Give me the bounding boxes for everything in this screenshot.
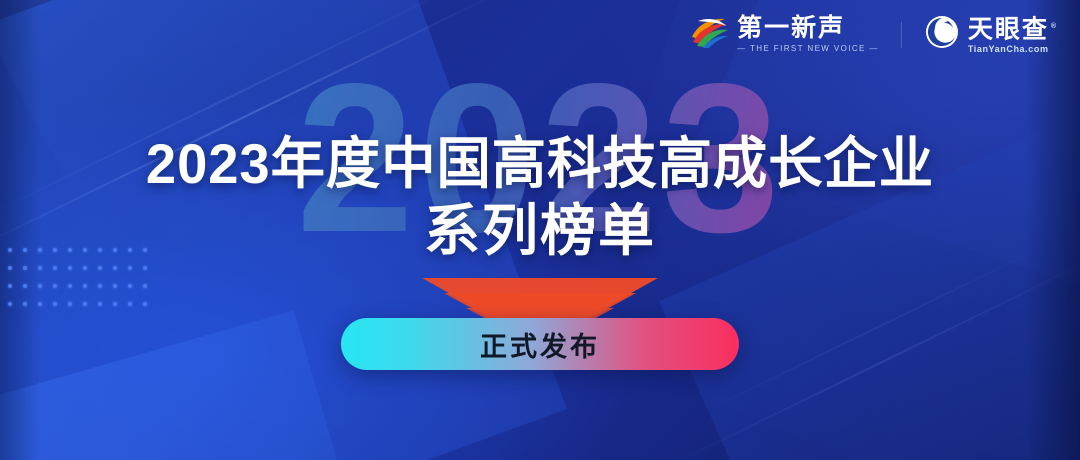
logo-diyixinsheng[interactable]: 第一新声 — THE FIRST NEW VOICE — (689, 15, 879, 54)
grid-dot (128, 284, 132, 288)
logo-bar: 第一新声 — THE FIRST NEW VOICE — 天眼查® TianYa… (689, 14, 1058, 55)
grid-dot (143, 266, 147, 270)
grid-dot (143, 284, 147, 288)
grid-dot (38, 266, 42, 270)
grid-dot (143, 302, 147, 306)
grid-dot (8, 266, 12, 270)
grid-dot (23, 302, 27, 306)
logo-divider (901, 22, 902, 48)
grid-dot (23, 284, 27, 288)
diyixinsheng-mark-icon (689, 15, 729, 54)
diyixinsheng-text: 第一新声 — THE FIRST NEW VOICE — (737, 15, 879, 54)
release-pill-label: 正式发布 (480, 325, 600, 364)
trademark-symbol: ® (1051, 23, 1058, 30)
tianyancha-name-cn: 天眼查® (968, 14, 1058, 42)
diyixinsheng-tagline: — THE FIRST NEW VOICE — (737, 43, 879, 54)
headline-line-2: 系列榜单 (0, 200, 1080, 262)
grid-dot (8, 302, 12, 306)
tianyancha-eye-icon (924, 14, 960, 55)
grid-dot (38, 302, 42, 306)
grid-dot (113, 266, 117, 270)
grid-dot (128, 302, 132, 306)
grid-dot (98, 302, 102, 306)
grid-dot (23, 266, 27, 270)
grid-dot (83, 266, 87, 270)
headline-line-1: 2023年度中国高科技高成长企业 (16, 132, 1064, 196)
tianyancha-name-cn-text: 天眼查 (968, 15, 1049, 43)
grid-dot (113, 284, 117, 288)
grid-dot (8, 284, 12, 288)
page-title: 2023年度中国高科技高成长企业 系列榜单 (0, 132, 1080, 262)
tianyancha-text: 天眼查® TianYanCha.com (968, 14, 1058, 55)
grid-dot (128, 266, 132, 270)
diyixinsheng-name-cn: 第一新声 (737, 15, 879, 41)
grid-dot (38, 284, 42, 288)
grid-dot (98, 266, 102, 270)
grid-dot (83, 302, 87, 306)
release-pill-button[interactable]: 正式发布 (341, 318, 739, 370)
grid-dot (113, 302, 117, 306)
grid-dot (68, 266, 72, 270)
logo-tianyancha[interactable]: 天眼查® TianYanCha.com (924, 14, 1058, 55)
grid-dot (98, 284, 102, 288)
grid-dot (83, 284, 87, 288)
grid-dot (53, 302, 57, 306)
grid-dot (53, 284, 57, 288)
grid-dot (53, 266, 57, 270)
promo-banner: 2023 2023年度中国高科技高成长企业 系列榜单 正式发布 第一新声 — (0, 0, 1080, 460)
grid-dot (68, 284, 72, 288)
grid-dot (68, 302, 72, 306)
tianyancha-tagline: TianYanCha.com (968, 44, 1058, 55)
